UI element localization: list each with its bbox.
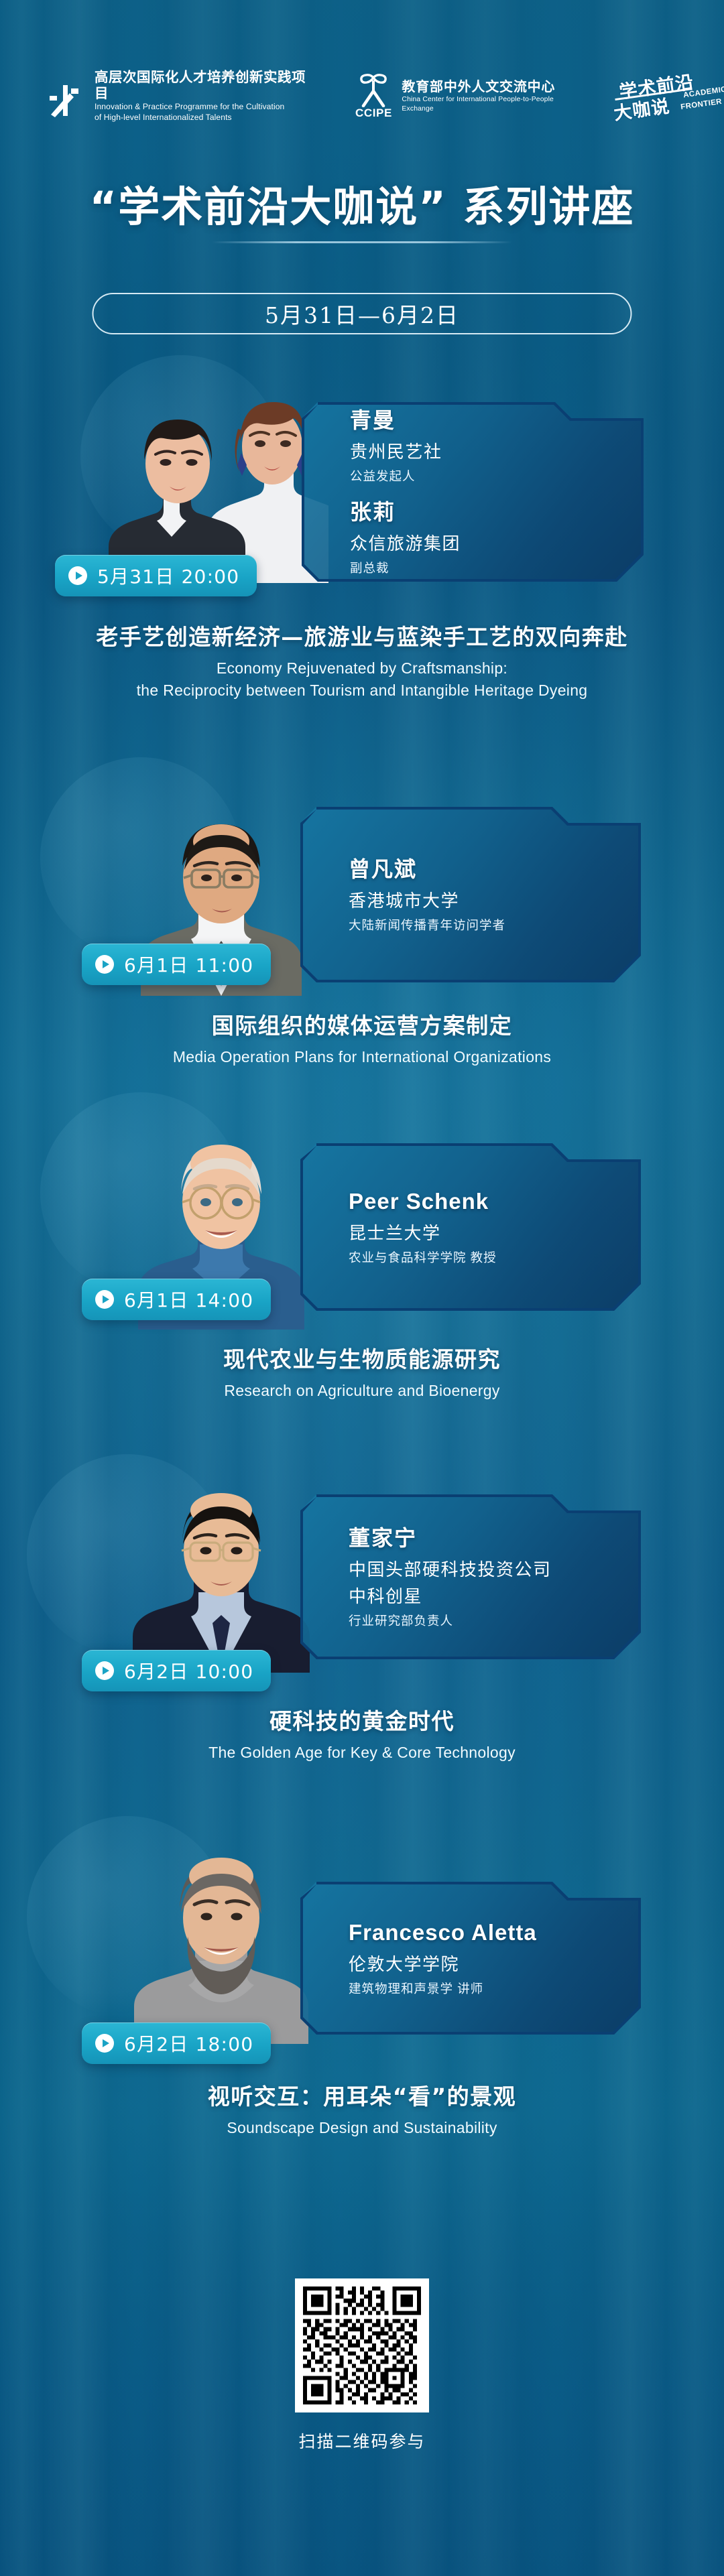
speaker-org: 中国头部硬科技投资公司: [349, 1557, 614, 1583]
talk-title-en-1: The Golden Age for Key & Core Technology: [0, 1742, 724, 1764]
talk-title-cn: 国际组织的媒体运营方案制定: [0, 1012, 724, 1041]
qr-caption: 扫描二维码参与: [295, 2429, 429, 2453]
session-time: 6月1日 11:00: [124, 951, 253, 978]
speaker-portrait-4: [121, 1472, 322, 1673]
speaker-role: 副总裁: [350, 560, 617, 578]
academic-frontier-talks-logo: 学术前沿 大咖说 ACADEMIC FRONTIER TALKS: [613, 71, 724, 122]
ccipe-mark-icon: CCIPE: [353, 74, 394, 119]
speaker-name: Peer Schenk: [349, 1187, 614, 1217]
speaker-card-5: Francesco Aletta 伦敦大学学院 建筑物理和声景学 讲师: [300, 1882, 641, 2035]
speaker-name: 张莉: [350, 498, 617, 527]
speaker-name: 董家宁: [349, 1524, 614, 1553]
speaker-card-3: Peer Schenk 昆士兰大学 农业与食品科学学院 教授: [300, 1143, 641, 1311]
session-time-badge-2[interactable]: 6月1日 11:00: [82, 944, 271, 985]
session-time-badge-3[interactable]: 6月1日 14:00: [82, 1279, 271, 1320]
speaker-name: Francesco Aletta: [349, 1918, 614, 1948]
speaker-org: 众信旅游集团: [350, 531, 617, 557]
talk-title-cn: 视听交互：用耳朵“看”的景观: [0, 2083, 724, 2112]
talk-title-en-1: Research on Agriculture and Bioenergy: [0, 1380, 724, 1402]
talk-title-en-1: Soundscape Design and Sustainability: [0, 2117, 724, 2139]
speaker-role: 大陆新闻传播青年访问学者: [349, 917, 614, 935]
session-2: 曾凡斌 香港城市大学 大陆新闻传播青年访问学者 6月1日 11:00 国际组织的…: [0, 784, 724, 1099]
speaker-role: 建筑物理和声景学 讲师: [349, 1980, 614, 1998]
talk-title-5: 视听交互：用耳朵“看”的景观 Soundscape Design and Sus…: [0, 2083, 724, 2139]
ccipe-abbr: CCIPE: [353, 107, 394, 120]
session-time-badge-1[interactable]: 5月31日 20:00: [55, 555, 257, 596]
speaker-org: 贵州民艺社: [350, 440, 617, 465]
talent-programme-en-1: Innovation & Practice Programme for the …: [95, 102, 315, 113]
session-time-badge-5[interactable]: 6月2日 18:00: [82, 2022, 271, 2064]
date-range-pill: 5月31日—6月2日: [93, 293, 632, 334]
talent-programme-en-2: of High-level Internationalized Talents: [95, 113, 315, 123]
talent-programme-logo: 高层次国际化人才培养创新实践项目 Innovation & Practice P…: [48, 70, 315, 123]
speaker-card-2: 曾凡斌 香港城市大学 大陆新闻传播青年访问学者: [300, 807, 641, 982]
portrait-photo-5: [121, 1836, 322, 2044]
talent-programme-mark-icon: [48, 74, 86, 119]
session-time: 6月2日 10:00: [124, 1657, 253, 1684]
portrait-photo-4: [121, 1472, 322, 1673]
speaker-role: 行业研究部负责人: [349, 1612, 614, 1630]
speaker-name: 曾凡斌: [349, 855, 614, 884]
talk-title-cn: 现代农业与生物质能源研究: [0, 1346, 724, 1374]
session-time: 5月31日 20:00: [97, 562, 239, 589]
speaker-role: 农业与食品科学学院 教授: [349, 1249, 614, 1267]
qr-code-icon[interactable]: [295, 2278, 429, 2412]
talk-title-3: 现代农业与生物质能源研究 Research on Agriculture and…: [0, 1346, 724, 1402]
session-1: 青曼 贵州民艺社 公益发起人 张莉 众信旅游集团 副总裁 5月31日 20:00…: [0, 375, 724, 751]
ccipe-logo: CCIPE 教育部中外人文交流中心 China Center for Inter…: [353, 74, 583, 119]
title-divider: [212, 241, 512, 243]
qr-footer: 扫描二维码参与: [295, 2278, 429, 2453]
play-icon: [68, 566, 87, 585]
session-time: 6月1日 14:00: [124, 1286, 253, 1313]
date-range-label: 5月31日—6月2日: [265, 298, 459, 330]
speaker-org: 香港城市大学: [349, 889, 614, 914]
speaker-card-1: 青曼 贵州民艺社 公益发起人 张莉 众信旅游集团 副总裁: [302, 402, 644, 582]
session-5: Francesco Aletta 伦敦大学学院 建筑物理和声景学 讲师 6月2日…: [0, 1796, 724, 2144]
talk-title-4: 硬科技的黄金时代 The Golden Age for Key & Core T…: [0, 1708, 724, 1764]
talk-title-en-1: Economy Rejuvenated by Craftsmanship:: [0, 657, 724, 680]
speaker-org: 昆士兰大学: [349, 1221, 614, 1246]
page-title: “学术前沿大咖说” 系列讲座: [0, 173, 724, 233]
header-logo-bar: 高层次国际化人才培养创新实践项目 Innovation & Practice P…: [0, 56, 724, 137]
talk-title-2: 国际组织的媒体运营方案制定 Media Operation Plans for …: [0, 1012, 724, 1068]
speaker-portrait-5: [121, 1836, 322, 2044]
talk-title-cn: 老手艺创造新经济—旅游业与蓝染手工艺的双向奔赴: [0, 623, 724, 652]
speaker-name: 青曼: [350, 406, 617, 435]
play-icon: [95, 955, 114, 974]
running-figure-arrow-icon: [50, 85, 82, 117]
portrait-photo-1: [80, 389, 328, 583]
speaker-role: 公益发起人: [350, 468, 617, 486]
play-icon: [95, 1661, 114, 1680]
speaker-portrait-1: [80, 389, 328, 583]
talk-title-1: 老手艺创造新经济—旅游业与蓝染手工艺的双向奔赴 Economy Rejuvena…: [0, 623, 724, 701]
ccipe-figure-icon: [353, 74, 394, 107]
talk-title-en-1: Media Operation Plans for International …: [0, 1046, 724, 1068]
speaker-org: 伦敦大学学院: [349, 1952, 614, 1978]
speaker-org-2: 中科创星: [349, 1584, 614, 1610]
talk-title-en-2: the Reciprocity between Tourism and Inta…: [0, 680, 724, 702]
session-4: 董家宁 中国头部硬科技投资公司 中科创星 行业研究部负责人 6月2日 10:00…: [0, 1441, 724, 1776]
speaker-card-4: 董家宁 中国头部硬科技投资公司 中科创星 行业研究部负责人: [300, 1494, 641, 1659]
session-3: Peer Schenk 昆士兰大学 农业与食品科学学院 教授 6月1日 14:0…: [0, 1112, 724, 1434]
talent-programme-cn: 高层次国际化人才培养创新实践项目: [95, 70, 315, 101]
session-time: 6月2日 18:00: [124, 2030, 253, 2057]
qr-code-matrix: [303, 2287, 421, 2404]
ccipe-en: China Center for International People-to…: [402, 95, 583, 114]
ccipe-cn: 教育部中外人文交流中心: [402, 79, 583, 95]
play-icon: [95, 2034, 114, 2053]
play-icon: [95, 1290, 114, 1309]
talk-title-cn: 硬科技的黄金时代: [0, 1708, 724, 1736]
session-time-badge-4[interactable]: 6月2日 10:00: [82, 1650, 271, 1691]
